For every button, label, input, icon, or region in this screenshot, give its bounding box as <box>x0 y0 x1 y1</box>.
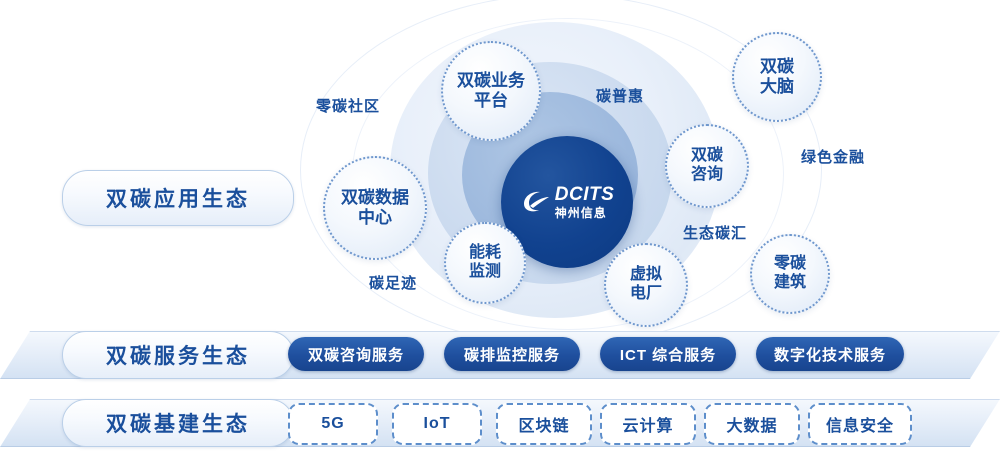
bubble-label-line2: 建筑 <box>774 274 806 293</box>
bubble-label: 双碳 大脑 <box>760 57 794 97</box>
brand-name-cn: 神州信息 <box>555 207 615 219</box>
bubble-label-line1: 双碳数据 <box>341 188 409 208</box>
service-pill-ict-integrated[interactable]: ICT 综合服务 <box>600 337 736 371</box>
bubble-virtual-power-plant[interactable]: 虚拟 电厂 <box>604 243 688 327</box>
bubble-label-line2: 中心 <box>341 208 409 228</box>
infra-pill-cloud-computing[interactable]: 云计算 <box>600 403 696 445</box>
bubble-label-line1: 虚拟 <box>630 266 662 285</box>
bubble-label: 双碳业务 平台 <box>457 71 525 111</box>
label-carbon-inclusion: 碳普惠 <box>596 85 644 106</box>
infra-pill-blockchain[interactable]: 区块链 <box>496 403 592 445</box>
infra-pill-iot[interactable]: IoT <box>392 403 482 445</box>
service-pill-emission-monitoring[interactable]: 碳排监控服务 <box>444 337 580 371</box>
bubble-dual-carbon-consulting[interactable]: 双碳 咨询 <box>665 124 749 208</box>
label-green-finance: 绿色金融 <box>801 146 865 167</box>
bubble-label-line2: 监测 <box>469 263 501 282</box>
bubble-label-line1: 能耗 <box>469 244 501 263</box>
bubble-label-line2: 咨询 <box>691 166 723 185</box>
tier-label-infrastructure[interactable]: 双碳基建生态 <box>62 399 294 447</box>
infra-pill-5g[interactable]: 5G <box>288 403 378 445</box>
bubble-dual-carbon-data-center[interactable]: 双碳数据 中心 <box>323 156 427 260</box>
bubble-label-line2: 平台 <box>457 91 525 111</box>
infra-pill-big-data[interactable]: 大数据 <box>704 403 800 445</box>
service-pill-consulting[interactable]: 双碳咨询服务 <box>288 337 424 371</box>
tier-label-application[interactable]: 双碳应用生态 <box>62 170 294 226</box>
diagram-canvas: DCITS 神州信息 双碳业务 平台 双碳 大脑 双碳数据 中心 双碳 咨询 能… <box>0 0 1000 476</box>
service-pill-digital-technology[interactable]: 数字化技术服务 <box>756 337 904 371</box>
label-ecological-carbon-sink: 生态碳汇 <box>683 222 747 243</box>
bubble-label-line1: 双碳 <box>760 57 794 77</box>
bubble-dual-carbon-brain[interactable]: 双碳 大脑 <box>732 32 822 122</box>
dcits-logo: DCITS 神州信息 <box>520 185 615 219</box>
label-carbon-footprint: 碳足迹 <box>369 272 417 293</box>
bubble-dual-carbon-platform[interactable]: 双碳业务 平台 <box>441 41 541 141</box>
bubble-label-line1: 零碳 <box>774 255 806 274</box>
brand-name: DCITS <box>555 185 615 204</box>
bubble-label-line2: 大脑 <box>760 77 794 97</box>
dcits-logo-text: DCITS 神州信息 <box>555 185 615 219</box>
bubble-label-line1: 双碳 <box>691 147 723 166</box>
bubble-label: 虚拟 电厂 <box>630 266 662 304</box>
label-zero-carbon-community: 零碳社区 <box>316 95 380 116</box>
bubble-label: 零碳 建筑 <box>774 255 806 293</box>
dcits-swoosh-icon <box>520 189 550 215</box>
bubble-label: 双碳 咨询 <box>691 147 723 185</box>
infra-pill-information-security[interactable]: 信息安全 <box>808 403 912 445</box>
bubble-energy-monitoring[interactable]: 能耗 监测 <box>444 222 526 304</box>
bubble-label-line2: 电厂 <box>630 285 662 304</box>
bubble-label: 双碳数据 中心 <box>341 188 409 228</box>
bubble-label: 能耗 监测 <box>469 244 501 282</box>
bubble-zero-carbon-building[interactable]: 零碳 建筑 <box>750 234 830 314</box>
tier-label-service[interactable]: 双碳服务生态 <box>62 331 294 379</box>
bubble-label-line1: 双碳业务 <box>457 71 525 91</box>
